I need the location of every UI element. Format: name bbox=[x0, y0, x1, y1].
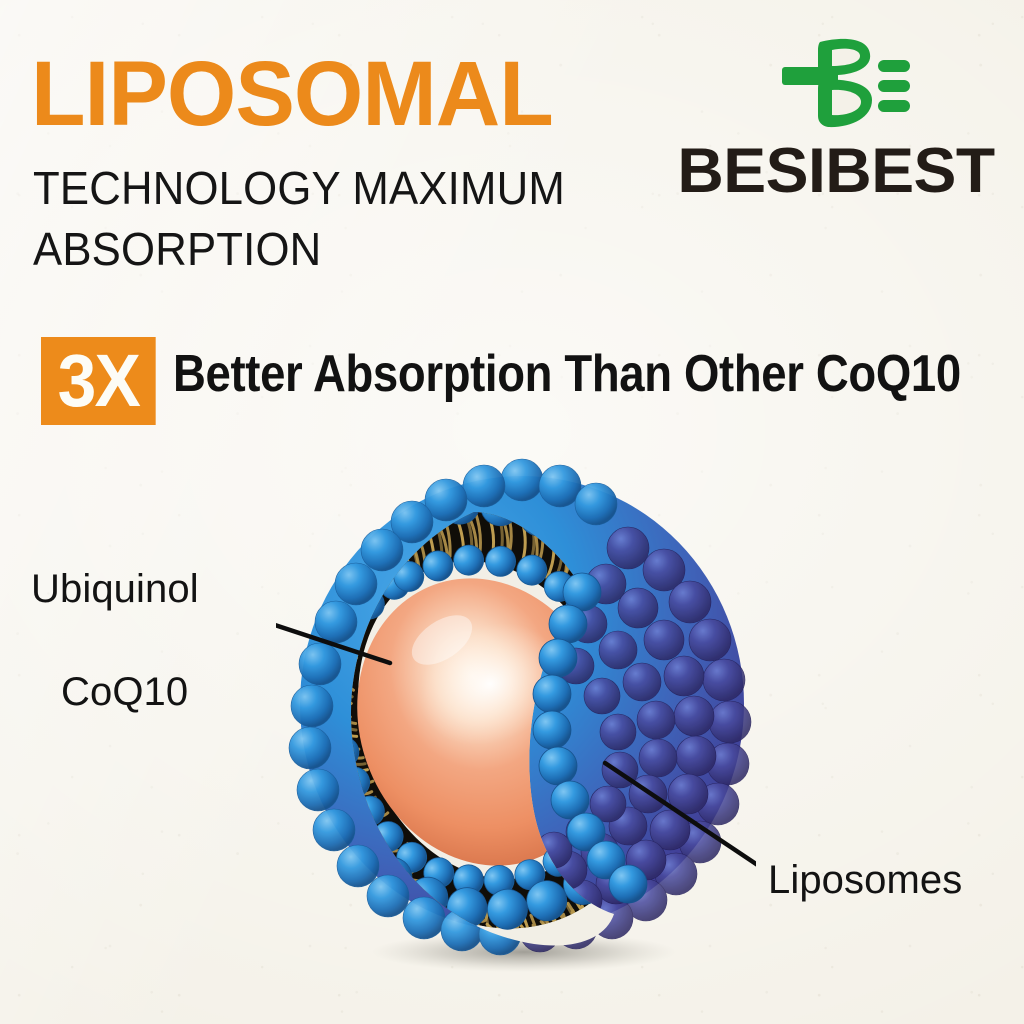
page-subtitle: TECHNOLOGY MAXIMUM ABSORPTION bbox=[33, 158, 565, 279]
callout-liposomes: Liposomes bbox=[768, 855, 962, 906]
claim-text: Better Absorption Than Other CoQ10 bbox=[173, 348, 961, 400]
infographic-canvas: LIPOSOMAL TECHNOLOGY MAXIMUM ABSORPTION bbox=[0, 0, 1024, 1024]
callout-ubiquinol-coq10: Ubiquinol CoQ10 bbox=[31, 513, 199, 718]
besibest-leaf-b-mark-icon bbox=[782, 36, 910, 136]
brand-logo: BESIBEST bbox=[660, 36, 1012, 208]
callout-ubiquinol-line2: CoQ10 bbox=[31, 667, 188, 718]
liposome-cutaway-diagram bbox=[276, 452, 756, 992]
page-title: LIPOSOMAL bbox=[31, 48, 553, 140]
callout-ubiquinol-line1: Ubiquinol bbox=[31, 567, 199, 611]
brand-wordmark: BESIBEST bbox=[656, 140, 1015, 203]
multiplier-badge: 3X bbox=[41, 337, 156, 425]
